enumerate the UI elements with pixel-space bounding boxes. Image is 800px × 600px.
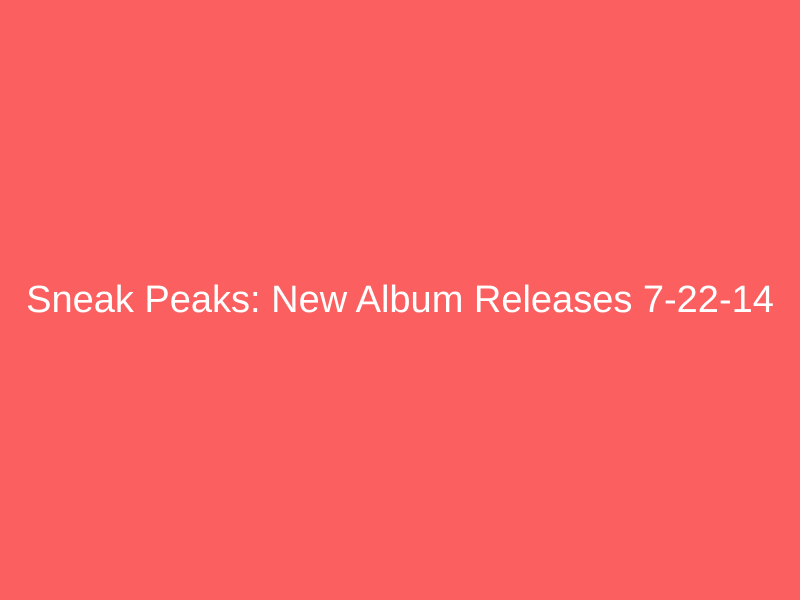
- headline-text: Sneak Peaks: New Album Releases 7-22-14: [0, 278, 800, 322]
- placeholder-image: Sneak Peaks: New Album Releases 7-22-14: [0, 0, 800, 600]
